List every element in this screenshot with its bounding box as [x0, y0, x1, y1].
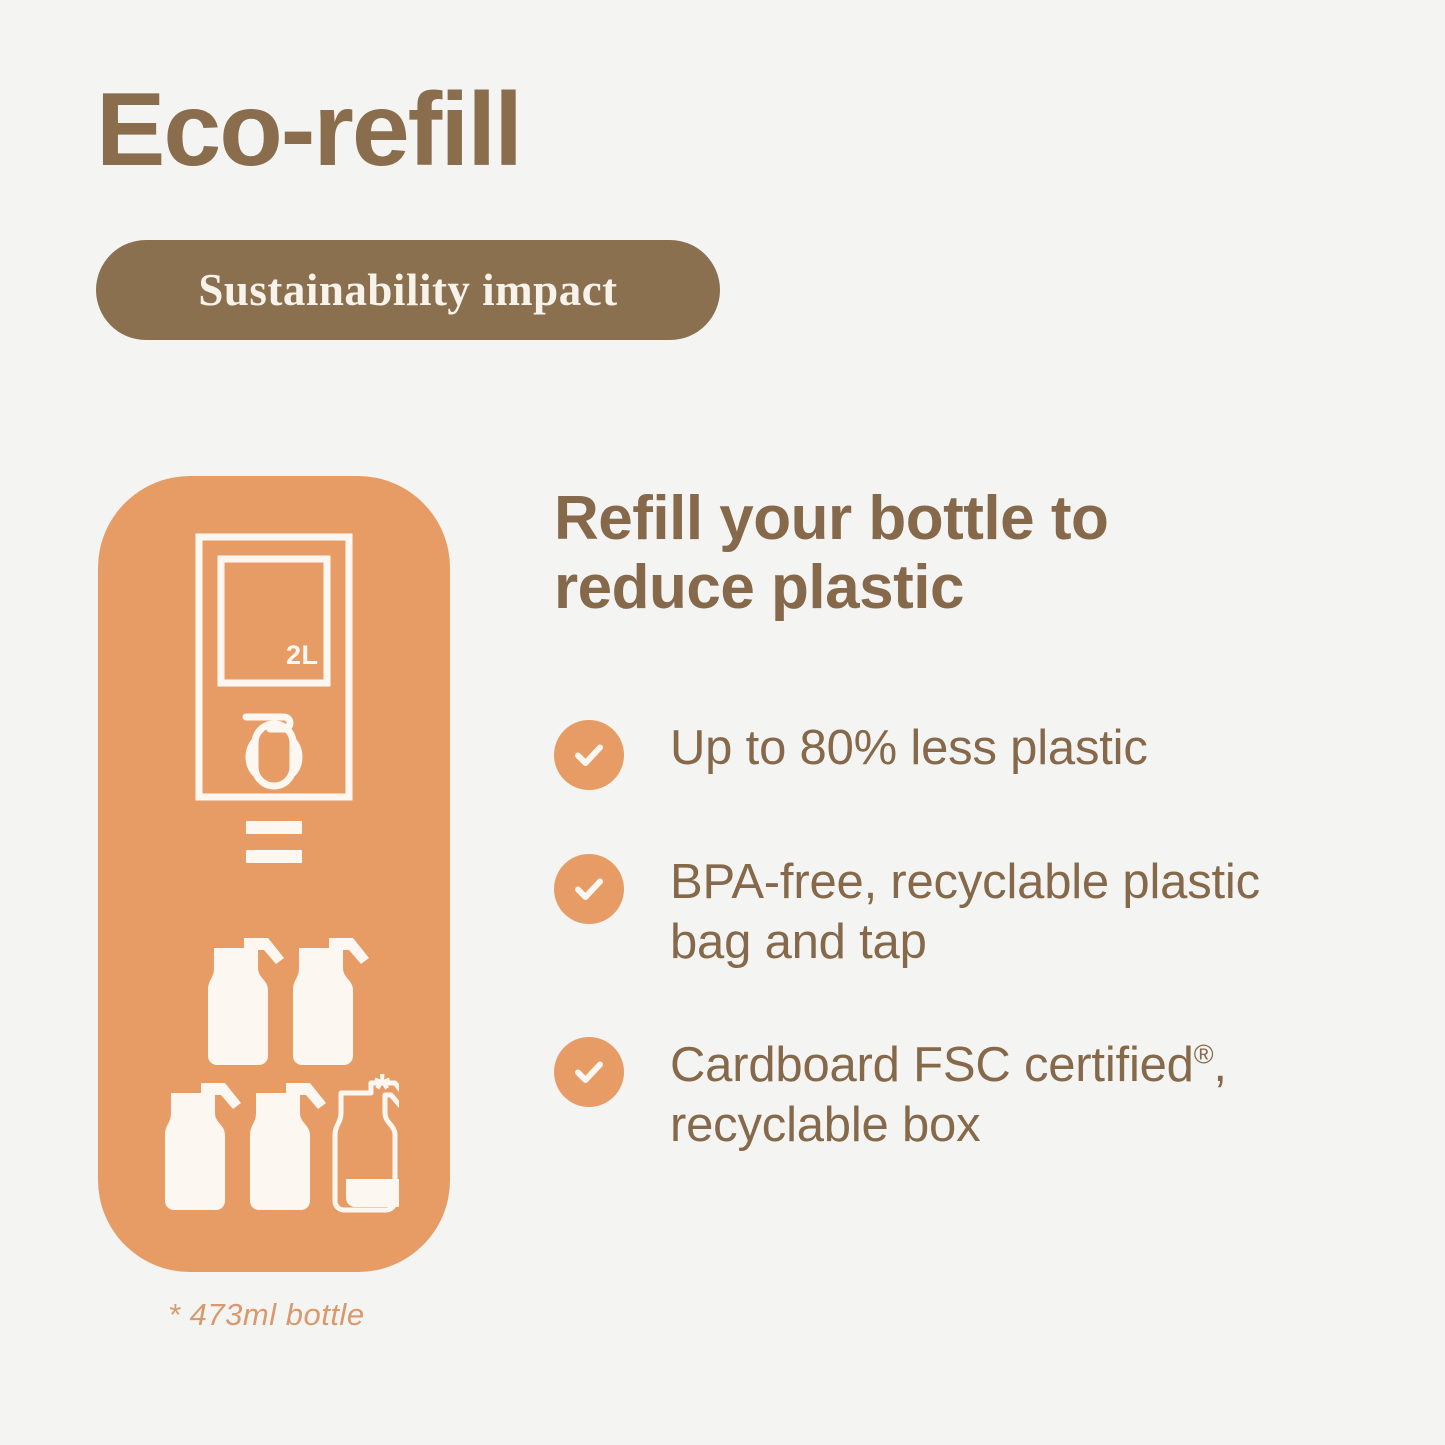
benefit-item-3: Cardboard FSC certified®, recyclable box: [554, 1035, 1354, 1156]
benefits-list: Up to 80% less plastic BPA-free, recycla…: [554, 718, 1354, 1155]
illustration-panel: 2L: [98, 476, 450, 1272]
benefit-item-1: Up to 80% less plastic: [554, 718, 1354, 790]
benefit-text-3-main: Cardboard FSC certified: [670, 1038, 1194, 1092]
check-icon-svg: [569, 1052, 609, 1092]
registered-trademark-symbol: ®: [1194, 1039, 1214, 1069]
benefit-text-2: BPA-free, recyclable plastic bag and tap: [670, 852, 1330, 973]
benefit-item-2: BPA-free, recyclable plastic bag and tap: [554, 852, 1354, 973]
benefits-column: Refill your bottle to reduce plastic Up …: [554, 484, 1354, 623]
check-icon-svg: [569, 869, 609, 909]
bottle-filled-3: [165, 1083, 241, 1210]
equals-bar-bottom: [246, 850, 302, 863]
footnote-bottle-size: * 473ml bottle: [168, 1297, 365, 1333]
badge-label: Sustainability impact: [198, 264, 617, 316]
page-title: Eco-refill: [96, 78, 521, 182]
illustration-content: 2L: [98, 476, 450, 1272]
asterisk-marker: *: [374, 1068, 390, 1110]
check-icon: [554, 854, 624, 924]
box-volume-label: 2L: [286, 640, 319, 671]
spray-bottles-svg: [149, 926, 399, 1216]
equals-icon: [246, 821, 302, 863]
refill-box-icon: 2L: [194, 532, 354, 807]
check-icon: [554, 720, 624, 790]
benefit-text-1: Up to 80% less plastic: [670, 718, 1148, 778]
check-icon: [554, 1037, 624, 1107]
bottle-filled-4: [250, 1083, 326, 1210]
bottle-filled-2: [293, 938, 369, 1065]
sustainability-impact-badge: Sustainability impact: [96, 240, 720, 340]
equals-bar-top: [246, 821, 302, 834]
refill-box-svg: [194, 532, 354, 802]
benefit-text-3: Cardboard FSC certified®, recyclable box: [670, 1035, 1330, 1156]
eco-refill-infographic: Eco-refill Sustainability impact 2L: [0, 0, 1445, 1445]
spray-bottles-group: *: [149, 926, 399, 1221]
benefits-headline: Refill your bottle to reduce plastic: [554, 484, 1254, 623]
bottle-filled-1: [208, 938, 284, 1065]
check-icon-svg: [569, 735, 609, 775]
